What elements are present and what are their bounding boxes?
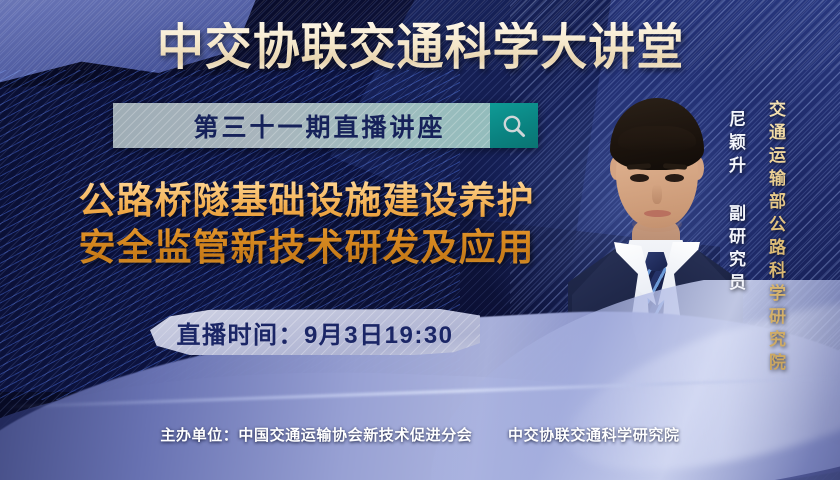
portrait-nose (652, 184, 662, 204)
footer-co-organizer: 中交协联交通科学研究院 (508, 427, 680, 444)
subtitle-bar-label: 第三十一期直播讲座 (113, 103, 490, 148)
search-icon[interactable] (490, 103, 538, 148)
broadcast-time-pill: 直播时间：9月3日19:30 (150, 309, 480, 355)
footer: 主办单位：中国交通运输协会新技术促进分会 中交协联交通科学研究院 (0, 424, 840, 445)
footer-organizer: 主办单位：中国交通运输协会新技术促进分会 (160, 427, 472, 444)
portrait-eye-left (630, 174, 649, 182)
portrait-hair-fringe (618, 126, 696, 152)
subtitle-bar: 第三十一期直播讲座 (113, 103, 538, 148)
headline-line-1: 公路桥隧基础设施建设养护 (34, 178, 579, 225)
headline: 公路桥隧基础设施建设养护 安全监管新技术研发及应用 (34, 178, 579, 272)
headline-line-2: 安全监管新技术研发及应用 (34, 225, 579, 272)
main-title: 中交协联交通科学大讲堂 (156, 22, 683, 72)
speaker-name-title: 尼颖升 副研究员 (723, 110, 748, 296)
portrait-eye-right (665, 174, 684, 182)
broadcast-time-label: 直播时间：9月3日19:30 (176, 315, 453, 350)
speaker-affiliation: 交通运输部公路科学研究院 (763, 100, 788, 376)
livestream-poster: 中交协联交通科学大讲堂 第三十一期直播讲座 公路桥隧基础设施建设养护 安全监管新… (0, 0, 840, 480)
main-title-wrapper: 中交协联交通科学大讲堂 (0, 22, 840, 72)
portrait-chin-shadow (632, 216, 682, 232)
